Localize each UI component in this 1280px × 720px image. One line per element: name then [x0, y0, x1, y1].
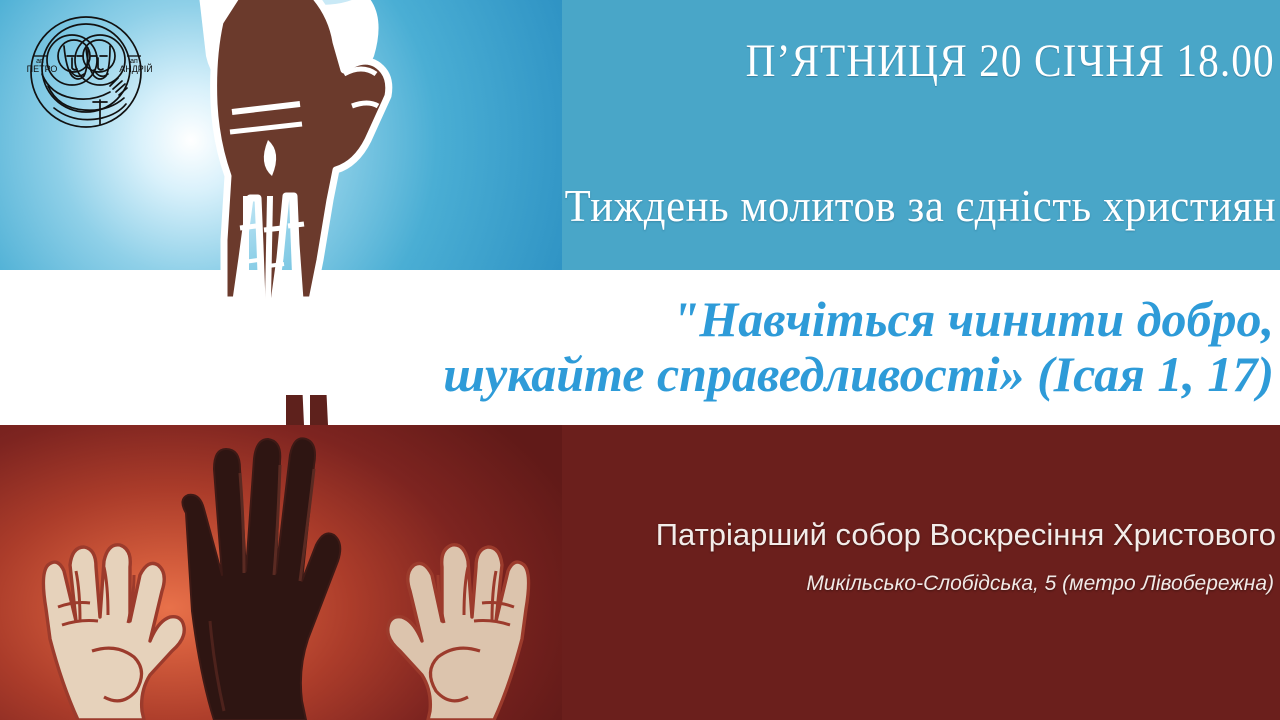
logo-label-right: АНДРІЙ [119, 63, 153, 74]
scripture-quote: "Навчіться чинити добро, шукайте справед… [40, 292, 1280, 402]
event-title: Тиждень молитов за єдність християн [349, 180, 1280, 232]
emblem-apostles-peter-and-andrew: ап ПЕТРО ап АНДРІЙ [14, 12, 164, 136]
poster-canvas: ап ПЕТРО ап АНДРІЙ П’ЯТНИЦЯ 20 СІЧНЯ 18.… [0, 0, 1280, 720]
scripture-quote-line-2: шукайте справедливості» (Ісая 1, 17) [40, 347, 1274, 402]
event-date-time: П’ЯТНИЦЯ 20 СІЧНЯ 18.00 [682, 34, 1280, 88]
scripture-quote-line-1: "Навчіться чинити добро, [40, 292, 1274, 347]
venue-address: Микільсько-Слобідська, 5 (метро Лівобере… [300, 572, 1280, 596]
logo-label-left: ПЕТРО [27, 64, 58, 74]
venue-name: Патріарший собор Воскресіння Христового [300, 517, 1280, 553]
